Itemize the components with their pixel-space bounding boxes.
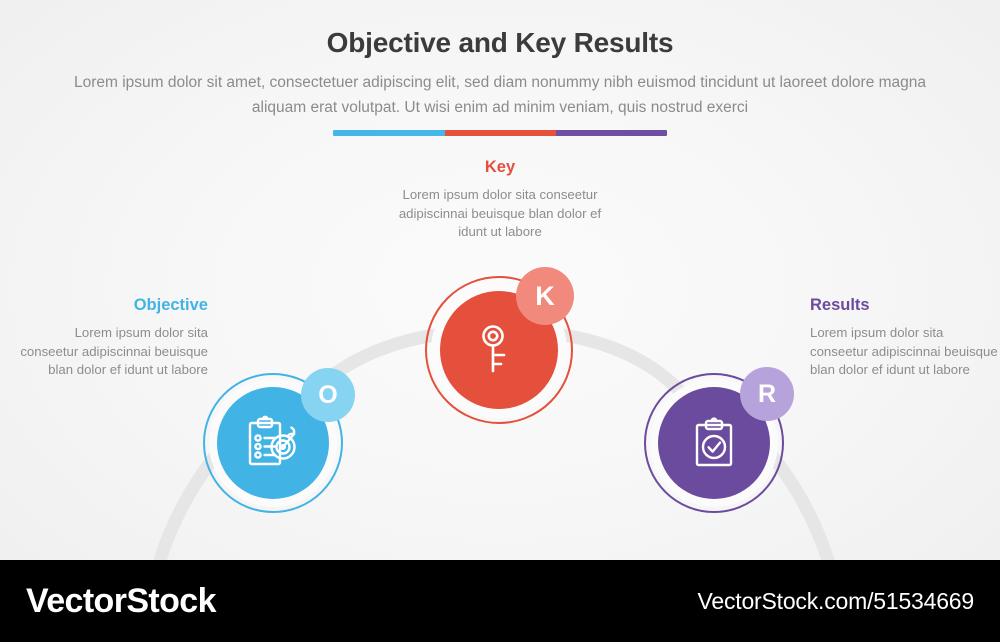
divider-segment-red	[445, 130, 556, 136]
text-block-results: Results Lorem ipsum dolor sita conseetur…	[810, 296, 1000, 380]
node-objective[interactable]: O	[203, 373, 343, 513]
key-icon	[468, 319, 530, 381]
node-key[interactable]: K	[425, 276, 573, 424]
color-divider	[333, 130, 667, 136]
infographic-canvas: Objective and Key Results Lorem ipsum do…	[0, 0, 1000, 642]
page-title: Objective and Key Results	[0, 27, 1000, 59]
heading-objective: Objective	[18, 296, 208, 315]
badge-key: K	[516, 267, 574, 325]
heading-results: Results	[810, 296, 1000, 315]
vectorstock-url: VectorStock.com/51534669	[698, 588, 975, 615]
watermark-bar: VectorStock VectorStock.com/51534669	[0, 560, 1000, 642]
badge-results-letter: R	[758, 380, 776, 409]
vectorstock-logo: VectorStock	[26, 582, 216, 621]
body-results: Lorem ipsum dolor sita conseetur adipisc…	[810, 324, 1000, 380]
divider-segment-blue	[333, 130, 445, 136]
heading-key: Key	[392, 158, 608, 177]
page-subtitle: Lorem ipsum dolor sit amet, consectetuer…	[70, 70, 930, 120]
clipboard-check-icon	[684, 413, 744, 473]
text-block-key: Key Lorem ipsum dolor sita conseetur adi…	[392, 158, 608, 242]
badge-results: R	[740, 367, 794, 421]
badge-key-letter: K	[535, 281, 555, 312]
divider-segment-purple	[556, 130, 667, 136]
node-results[interactable]: R	[644, 373, 784, 513]
infographic-stage: Objective and Key Results Lorem ipsum do…	[0, 0, 1000, 560]
body-objective: Lorem ipsum dolor sita conseetur adipisc…	[18, 324, 208, 380]
body-key: Lorem ipsum dolor sita conseetur adipisc…	[392, 186, 608, 242]
text-block-objective: Objective Lorem ipsum dolor sita conseet…	[18, 296, 208, 380]
badge-objective-letter: O	[318, 381, 337, 410]
clipboard-target-icon	[242, 412, 304, 474]
badge-objective: O	[301, 368, 355, 422]
